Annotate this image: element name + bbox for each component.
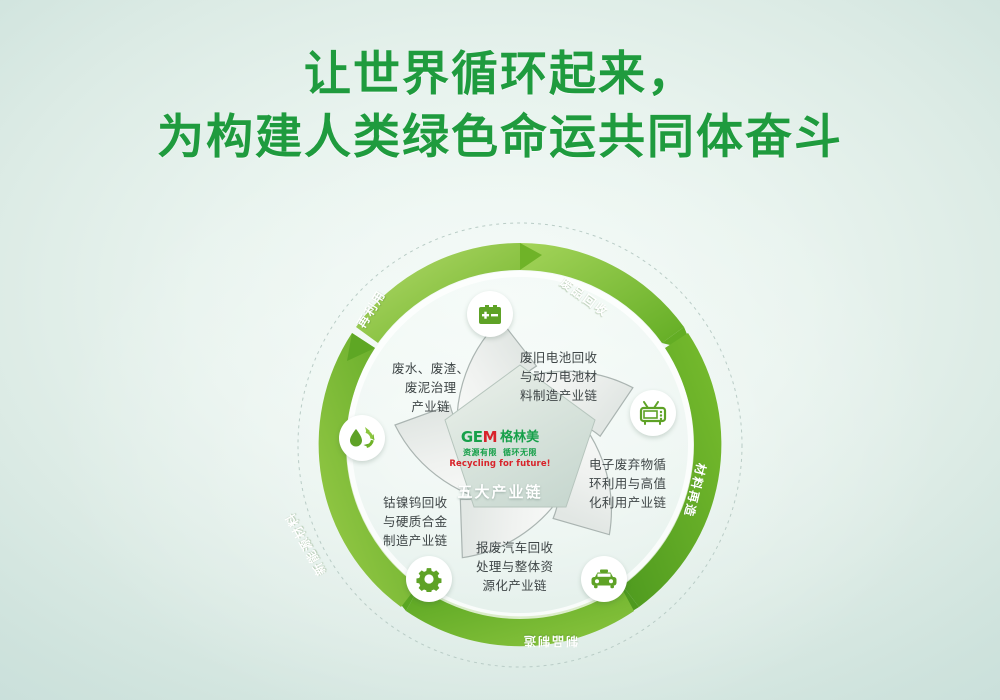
water-recycle-icon-glyph [348,425,376,452]
headline-line-2: 为构建人类绿色命运共同体奋斗 [0,107,1000,170]
headline-line-1: 让世界循环起来， [0,44,1000,107]
battery-icon[interactable] [467,291,513,337]
page-title: 让世界循环起来， 为构建人类绿色命运共同体奋斗 [0,44,1000,170]
television-icon[interactable] [630,390,676,436]
television-icon-glyph [639,400,667,426]
gear-icon-glyph [416,566,442,592]
battery-icon-glyph [477,302,503,326]
gear-icon[interactable] [406,556,452,602]
car-icon[interactable] [581,556,627,602]
car-icon-glyph [590,568,618,590]
water-recycle-icon[interactable] [339,415,385,461]
